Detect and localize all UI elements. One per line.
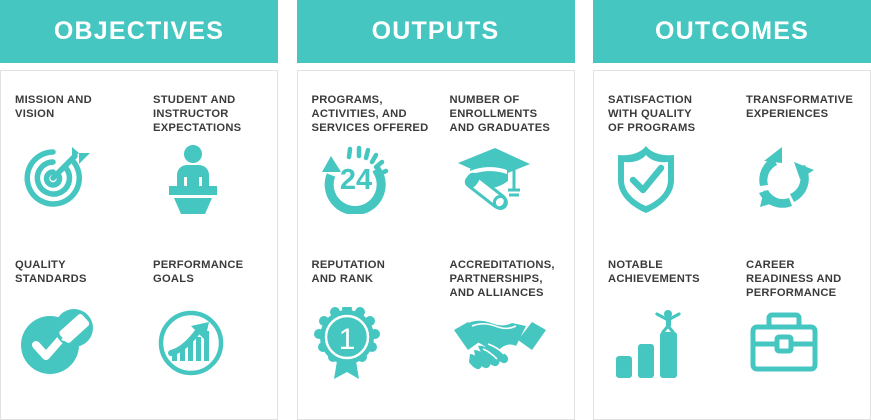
outcomes-row-2: NOTABLE ACHIEVEMENTS bbox=[594, 254, 870, 419]
cell-label: TRANSFORMATIVE EXPERIENCES bbox=[746, 93, 870, 137]
cell-label: NUMBER OF ENROLLMENTS AND GRADUATES bbox=[450, 93, 574, 137]
briefcase-icon bbox=[746, 304, 870, 382]
twentyfour-hour-arrow-icon: 24 bbox=[312, 139, 436, 217]
outputs-row-2: REPUTATION AND RANK bbox=[298, 254, 574, 419]
cell-performance-goals: PERFORMANCE GOALS bbox=[139, 258, 277, 419]
recycle-cycle-arrows-icon bbox=[746, 139, 870, 217]
cell-label: REPUTATION AND RANK bbox=[312, 258, 436, 302]
cell-label: SATISFACTION WITH QUALITY OF PROGRAMS bbox=[608, 93, 732, 137]
cell-notable-achievements: NOTABLE ACHIEVEMENTS bbox=[594, 258, 732, 419]
column-outcomes: OUTCOMES SATISFACTION WITH QUALITY OF PR… bbox=[593, 0, 871, 420]
check-circle-pencil-icon bbox=[15, 304, 139, 382]
icon-value-rank: 1 bbox=[338, 323, 355, 356]
lectern-speaker-icon bbox=[153, 139, 277, 217]
outputs-row-1: PROGRAMS, ACTIVITIES, AND SERVICES OFFER… bbox=[298, 93, 574, 254]
icon-value-24: 24 bbox=[339, 164, 371, 196]
cell-label: MISSION AND VISION bbox=[15, 93, 139, 137]
bar-chart-person-icon bbox=[608, 304, 732, 382]
cell-label: CAREER READINESS AND PERFORMANCE bbox=[746, 258, 870, 302]
award-ribbon-icon: 1 bbox=[312, 304, 436, 382]
cell-mission-and-vision: MISSION AND VISION bbox=[1, 93, 139, 254]
column-objectives: OBJECTIVES MISSION AND VISION bbox=[0, 0, 278, 420]
cell-programs-activities-services: PROGRAMS, ACTIVITIES, AND SERVICES OFFER… bbox=[298, 93, 436, 254]
cell-label: ACCREDITATIONS, PARTNERSHIPS, AND ALLIAN… bbox=[450, 258, 574, 302]
graduation-cap-diploma-icon bbox=[450, 139, 574, 217]
cell-label: PROGRAMS, ACTIVITIES, AND SERVICES OFFER… bbox=[312, 93, 436, 137]
objectives-row-1: MISSION AND VISION bbox=[1, 93, 277, 254]
column-header-outputs: OUTPUTS bbox=[297, 0, 575, 63]
infographic-board: OBJECTIVES MISSION AND VISION bbox=[0, 0, 871, 420]
handshake-icon bbox=[450, 304, 574, 382]
column-header-outcomes: OUTCOMES bbox=[593, 0, 871, 63]
cell-label: STUDENT AND INSTRUCTOR EXPECTATIONS bbox=[153, 93, 277, 137]
column-panel-objectives: MISSION AND VISION bbox=[0, 70, 278, 420]
cell-reputation-and-rank: REPUTATION AND RANK bbox=[298, 258, 436, 419]
objectives-row-2: QUALITY STANDARDS bbox=[1, 254, 277, 419]
cell-label: QUALITY STANDARDS bbox=[15, 258, 139, 302]
cell-number-enrollments-graduates: NUMBER OF ENROLLMENTS AND GRADUATES bbox=[436, 93, 574, 254]
target-arrow-icon bbox=[15, 139, 139, 217]
column-outputs: OUTPUTS PROGRAMS, ACTIVITIES, AND SERVIC… bbox=[297, 0, 575, 420]
shield-check-icon bbox=[608, 139, 732, 217]
cell-student-instructor-expectations: STUDENT AND INSTRUCTOR EXPECTATIONS bbox=[139, 93, 277, 254]
column-panel-outcomes: SATISFACTION WITH QUALITY OF PROGRAMS TR… bbox=[593, 70, 871, 420]
growth-chart-circle-icon bbox=[153, 304, 277, 382]
cell-quality-standards: QUALITY STANDARDS bbox=[1, 258, 139, 419]
cell-accreditations-partnerships-alliances: ACCREDITATIONS, PARTNERSHIPS, AND ALLIAN… bbox=[436, 258, 574, 419]
cell-label: NOTABLE ACHIEVEMENTS bbox=[608, 258, 732, 302]
cell-label: PERFORMANCE GOALS bbox=[153, 258, 277, 302]
cell-transformative-experiences: TRANSFORMATIVE EXPERIENCES bbox=[732, 93, 870, 254]
cell-career-readiness-performance: CAREER READINESS AND PERFORMANCE bbox=[732, 258, 870, 419]
column-header-objectives: OBJECTIVES bbox=[0, 0, 278, 63]
cell-satisfaction-quality-programs: SATISFACTION WITH QUALITY OF PROGRAMS bbox=[594, 93, 732, 254]
column-panel-outputs: PROGRAMS, ACTIVITIES, AND SERVICES OFFER… bbox=[297, 70, 575, 420]
outcomes-row-1: SATISFACTION WITH QUALITY OF PROGRAMS TR… bbox=[594, 93, 870, 254]
